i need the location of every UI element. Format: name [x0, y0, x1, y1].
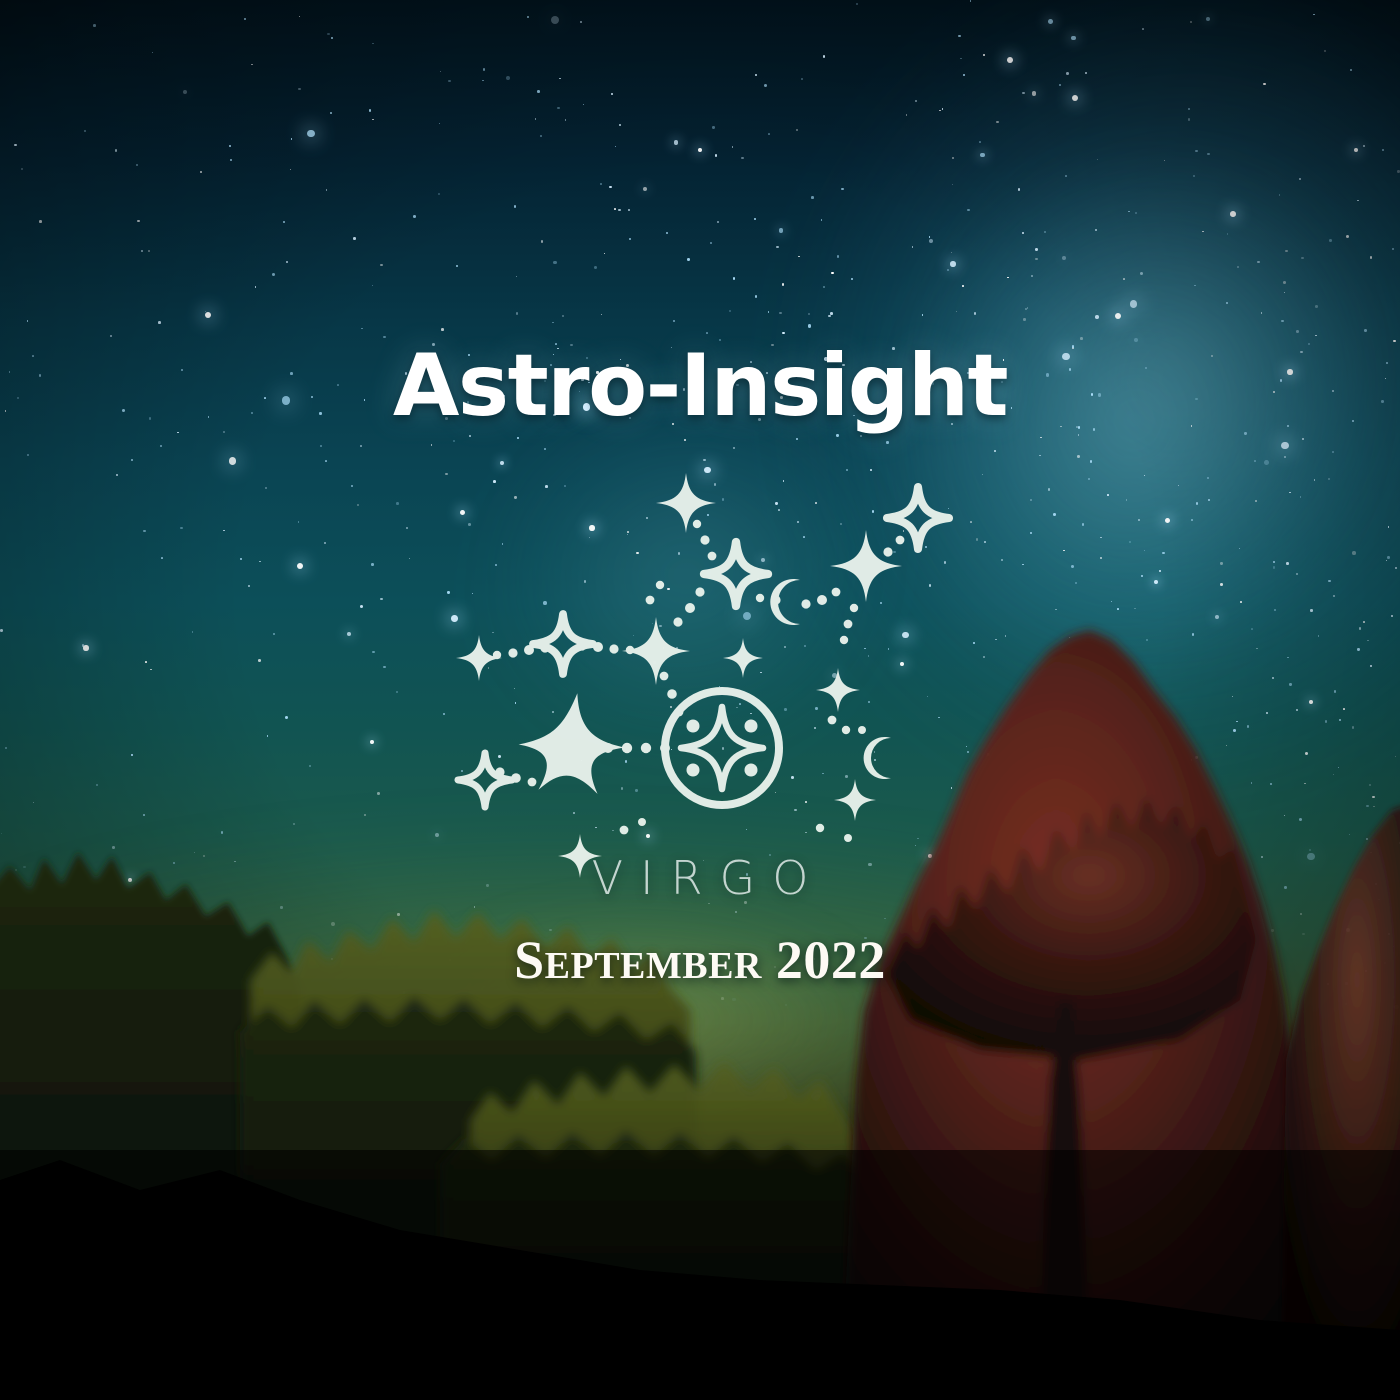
star-4pt-filled-upper-right	[830, 530, 902, 602]
astro-insight-poster: Astro-Insight VIRGO September 2022	[0, 0, 1400, 1400]
star-4pt-filled-mid-center	[622, 617, 690, 685]
dotted-path-left-arm	[493, 641, 634, 659]
star-4pt-outline-lower-left	[458, 753, 512, 807]
zodiac-sign-label: VIRGO	[0, 851, 1400, 905]
emblem-dot-bl	[687, 764, 700, 777]
date-label: September 2022	[0, 929, 1400, 991]
star-4pt-filled-small-center	[723, 638, 763, 678]
page-title: Astro-Insight	[0, 336, 1400, 436]
star-4pt-filled-left-end	[456, 635, 502, 681]
star-4pt-outline-mid-left	[533, 614, 593, 674]
star-4pt-filled-lower-right	[834, 779, 876, 821]
emblem-dot-tr	[745, 720, 758, 733]
emblem-dot-br	[745, 764, 758, 777]
star-4pt-filled-small-right	[816, 668, 860, 712]
virgo-constellation-graphic	[0, 0, 1400, 1400]
crescent-moon-upper	[770, 579, 800, 625]
dotted-path-top-center	[620, 818, 646, 834]
crescent-moon-lower-right	[864, 737, 891, 779]
emblem-dot-tl	[687, 720, 700, 733]
star-4pt-filled-top-center	[656, 473, 716, 533]
emblem-circle-star	[665, 691, 779, 805]
